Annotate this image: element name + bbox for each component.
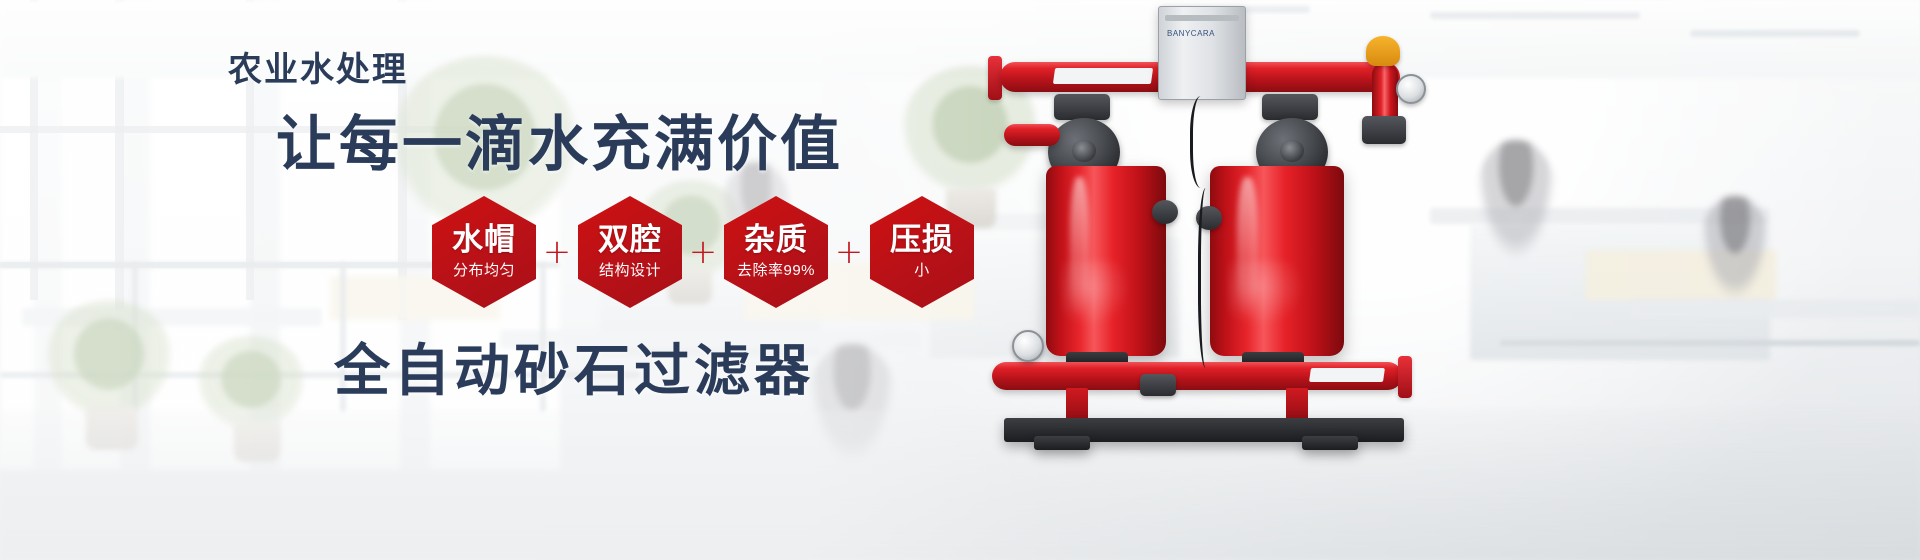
sensor-cable <box>1198 188 1217 368</box>
pipe-label <box>1053 68 1153 84</box>
ceiling-light <box>1690 30 1860 37</box>
air-release-valve <box>1366 36 1400 66</box>
feature-badge-row: 水帽 分布均匀 + 双腔 结构设计 + 杂质 去除率99% + 压损 小 <box>432 196 974 308</box>
subheadline-text: 全自动砂石过滤器 <box>334 326 814 407</box>
badge-separator-3: + <box>828 235 870 269</box>
skid-foot-right <box>1302 436 1358 450</box>
bottom-drain-valve <box>1140 374 1176 396</box>
eyebrow-text: 农业水处理 <box>228 42 408 91</box>
outlet-flange <box>1398 356 1412 398</box>
top-right-valve <box>1362 116 1406 144</box>
headline-text: 让每一滴水充满价值 <box>276 96 843 183</box>
badge-4-subtitle: 小 <box>914 262 930 280</box>
banner-copy: 农业水处理 让每一滴水充满价值 全自动砂石过滤器 水帽 分布均匀 + 双腔 结构… <box>0 0 1000 560</box>
controller-strip <box>1165 15 1239 21</box>
feature-badge-3: 杂质 去除率99% <box>724 196 828 308</box>
badge-1-subtitle: 分布均匀 <box>453 262 515 280</box>
promo-banner: 农业水处理 让每一滴水充满价值 全自动砂石过滤器 水帽 分布均匀 + 双腔 结构… <box>0 0 1920 560</box>
left-branch-pipe <box>1004 124 1060 146</box>
badge-separator-2: + <box>682 235 724 269</box>
badge-2-title: 双腔 <box>598 224 662 257</box>
office-person <box>1700 196 1770 300</box>
pressure-gauge-top <box>1396 74 1426 104</box>
badge-4-title: 压损 <box>890 224 954 257</box>
skid-foot-left <box>1034 436 1090 450</box>
badge-separator-1: + <box>536 235 578 269</box>
badge-1-title: 水帽 <box>452 224 516 257</box>
glass-rail <box>1500 340 1920 346</box>
controller-label: BANYCARA <box>1167 29 1215 38</box>
badge-2-subtitle: 结构设计 <box>599 262 661 280</box>
office-desk <box>1630 300 1920 318</box>
badge-3-subtitle: 去除率99% <box>737 262 815 280</box>
left-valve-neck <box>1054 94 1110 120</box>
feature-badge-4: 压损 小 <box>870 196 974 308</box>
tank-sheen <box>1063 261 1130 326</box>
feature-badge-2: 双腔 结构设计 <box>578 196 682 308</box>
product-photo-sand-filter: BANYCARA <box>1010 0 1530 560</box>
pressure-gauge-bottom <box>1012 330 1044 362</box>
feature-badge-1: 水帽 分布均匀 <box>432 196 536 308</box>
badge-3-title: 杂质 <box>744 224 808 257</box>
bottom-pipe-label <box>1309 368 1385 382</box>
controller-box: BANYCARA <box>1158 6 1246 100</box>
tank-sheen <box>1229 261 1304 326</box>
left-filter-tank <box>1046 166 1166 356</box>
right-valve-neck <box>1262 94 1318 120</box>
right-filter-tank <box>1210 166 1344 356</box>
left-tank-side-port <box>1152 200 1178 224</box>
